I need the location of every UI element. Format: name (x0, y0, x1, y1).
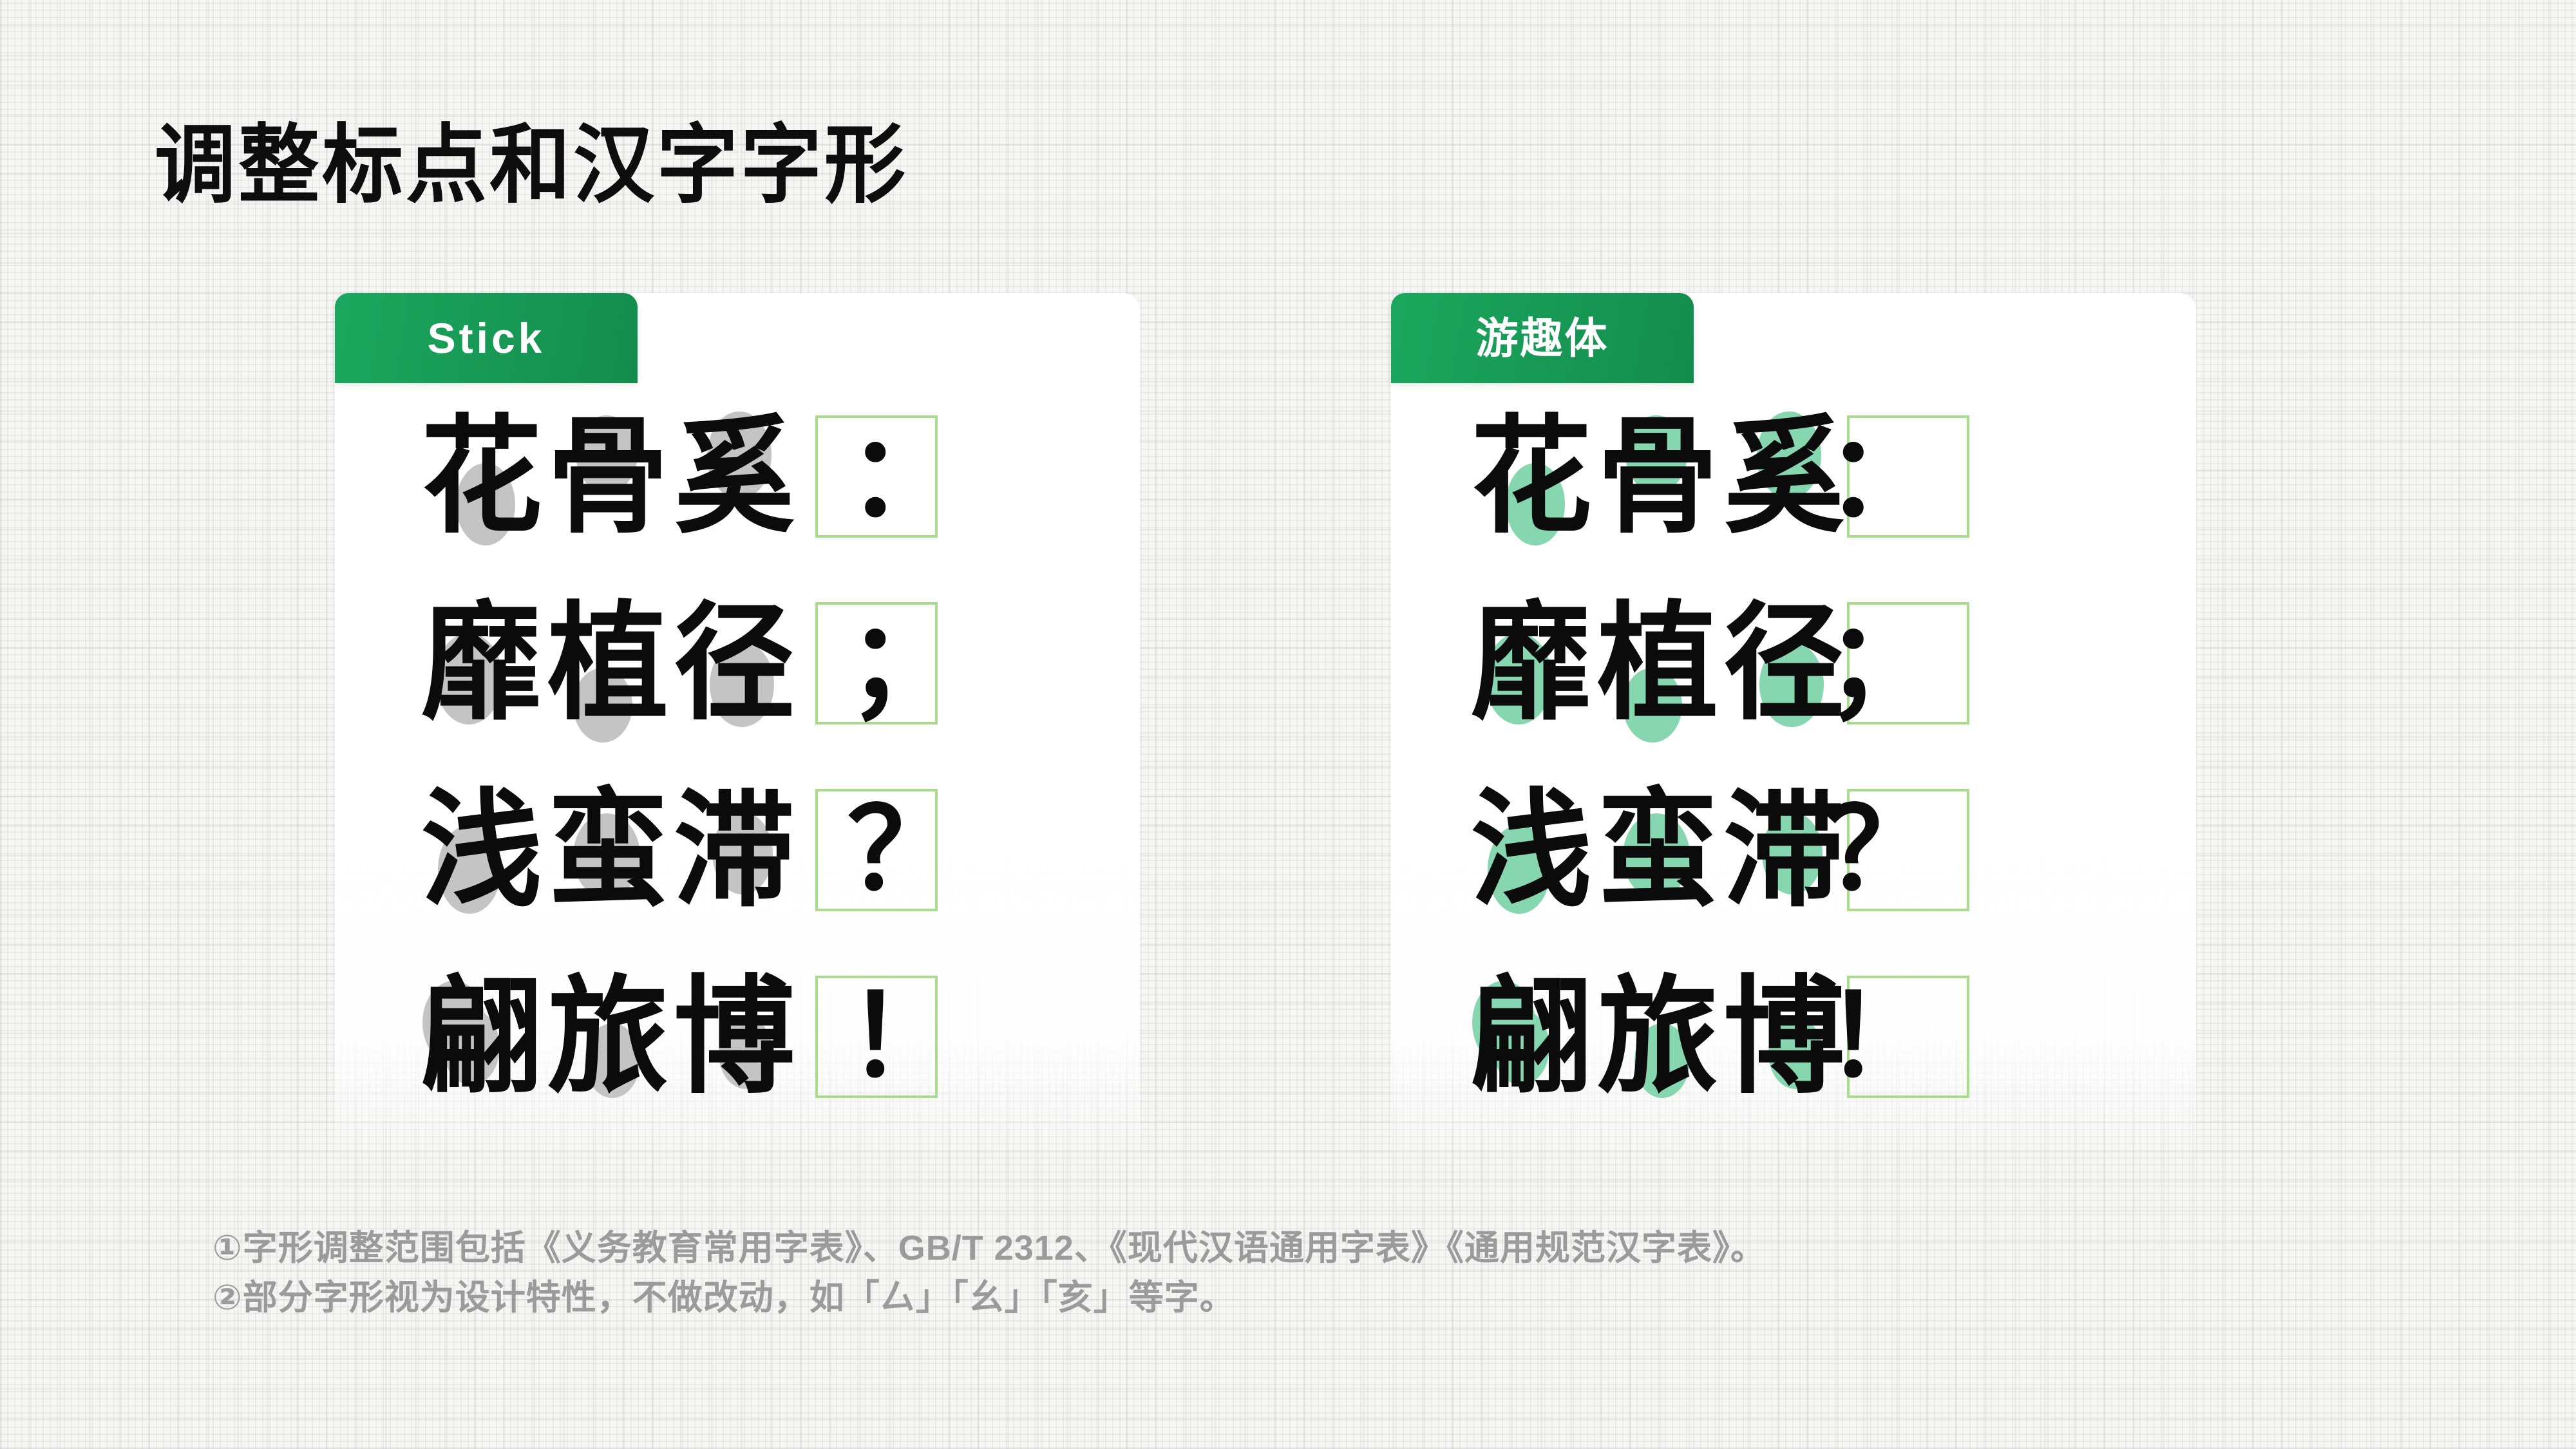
specimen-row: 浅蛮滞？ (335, 757, 1140, 943)
footnote-line: ①字形调整范围包括《义务教育常用字表》、GB/T 2312、《现代汉语通用字表》… (213, 1224, 1766, 1273)
specimen-character: 奚 (1723, 413, 1844, 540)
specimen-character: 花 (1471, 413, 1592, 540)
glyph-cell: 奚 (671, 409, 797, 544)
specimen-character: 博 (674, 973, 795, 1100)
glyph-group: 花骨奚 (1468, 409, 1847, 544)
slide-stage: 调整标点和汉字字形 Stick 花骨奚：靡植径；浅蛮滞？翩旅博！ 游趣体 花骨奚… (0, 0, 2576, 1449)
font-tab-stick[interactable]: Stick (335, 293, 638, 383)
punctuation-box: ？ (1847, 789, 1969, 911)
glyph-cell: 浅 (1468, 782, 1595, 918)
specimen-character: 滞 (1723, 786, 1844, 913)
font-tab-youquti[interactable]: 游趣体 (1391, 293, 1694, 383)
specimen-character: 靡 (1471, 600, 1592, 726)
specimen-character: 浅 (421, 786, 542, 913)
glyph-group: 翩旅博 (1468, 969, 1847, 1104)
punctuation-box: ： (1847, 415, 1969, 538)
glyph-cell: 植 (1595, 596, 1721, 731)
specimen-character: 花 (421, 413, 542, 540)
specimen-character: 旅 (1597, 973, 1718, 1100)
specimen-rows: 花骨奚：靡植径；浅蛮滞？翩旅博！ (1391, 383, 2196, 1130)
specimen-character: 骨 (547, 413, 668, 540)
specimen-row: 浅蛮滞？ (1391, 757, 2196, 943)
specimen-row: 花骨奚： (335, 383, 1140, 570)
punctuation-box: ： (815, 415, 938, 538)
specimen-row: 靡植径； (335, 570, 1140, 757)
specimen-character: 奚 (674, 413, 795, 540)
fullwidth-semicolon-glyph: ； (848, 607, 960, 720)
specimen-character: 植 (1597, 600, 1718, 726)
specimen-row: 靡植径； (1391, 570, 2196, 757)
glyph-cell: 蛮 (1595, 782, 1721, 918)
glyph-group: 浅蛮滞 (1468, 782, 1847, 918)
page-title: 调整标点和汉字字形 (155, 122, 908, 209)
fullwidth-colon-glyph: ： (848, 421, 960, 533)
specimen-row: 翩旅博！ (1391, 943, 2196, 1130)
glyph-group: 花骨奚 (419, 409, 797, 544)
glyph-cell: 骨 (545, 409, 671, 544)
fullwidth-exclamation-mark-glyph: ！ (848, 981, 960, 1094)
glyph-cell: 花 (419, 409, 545, 544)
glyph-cell: 滞 (671, 782, 797, 918)
punctuation-box: ； (1847, 602, 1969, 724)
specimen-panel-youquti: 游趣体 花骨奚：靡植径；浅蛮滞？翩旅博！ (1391, 293, 2196, 1162)
specimen-character: 浅 (1471, 786, 1592, 913)
footnote-line: ②部分字形视为设计特性，不做改动，如「厶」「幺」「亥」等字。 (213, 1273, 1766, 1323)
fullwidth-question-mark-glyph: ？ (848, 794, 960, 907)
glyph-cell: 靡 (1468, 596, 1595, 731)
specimen-row: 花骨奚： (1391, 383, 2196, 570)
glyph-cell: 径 (671, 596, 797, 731)
specimen-rows: 花骨奚：靡植径；浅蛮滞？翩旅博！ (335, 383, 1140, 1130)
specimen-character: 蛮 (1597, 786, 1718, 913)
specimen-character: 径 (1723, 600, 1844, 726)
glyph-group: 靡植径 (1468, 596, 1847, 731)
glyph-cell: 旅 (1595, 969, 1721, 1104)
specimen-character: 博 (1723, 973, 1844, 1100)
glyph-cell: 花 (1468, 409, 1595, 544)
specimen-character: 滞 (674, 786, 795, 913)
glyph-cell: 翩 (419, 969, 545, 1104)
punctuation-box: ！ (815, 976, 938, 1098)
glyph-cell: 浅 (419, 782, 545, 918)
glyph-cell: 博 (671, 969, 797, 1104)
specimen-row: 翩旅博！ (335, 943, 1140, 1130)
specimen-character: 靡 (421, 600, 542, 726)
punctuation-box: ； (815, 602, 938, 724)
glyph-cell: 径 (1721, 596, 1847, 731)
glyph-cell: 奚 (1721, 409, 1847, 544)
glyph-cell: 旅 (545, 969, 671, 1104)
specimen-character: 旅 (547, 973, 668, 1100)
specimen-character: 翩 (1471, 973, 1592, 1100)
glyph-cell: 翩 (1468, 969, 1595, 1104)
specimen-character: 翩 (421, 973, 542, 1100)
punctuation-box: ？ (815, 789, 938, 911)
glyph-cell: 植 (545, 596, 671, 731)
font-tab-label: 游趣体 (1476, 317, 1609, 359)
font-tab-label: Stick (428, 317, 545, 359)
specimen-panel-stick: Stick 花骨奚：靡植径；浅蛮滞？翩旅博！ (335, 293, 1140, 1162)
glyph-cell: 骨 (1595, 409, 1721, 544)
glyph-group: 浅蛮滞 (419, 782, 797, 918)
specimen-character: 植 (547, 600, 668, 726)
glyph-cell: 滞 (1721, 782, 1847, 918)
specimen-character: 径 (674, 600, 795, 726)
glyph-group: 翩旅博 (419, 969, 797, 1104)
glyph-cell: 博 (1721, 969, 1847, 1104)
glyph-cell: 靡 (419, 596, 545, 731)
glyph-cell: 蛮 (545, 782, 671, 918)
glyph-group: 靡植径 (419, 596, 797, 731)
specimen-character: 蛮 (547, 786, 668, 913)
specimen-character: 骨 (1597, 413, 1718, 540)
footnote-block: ①字形调整范围包括《义务教育常用字表》、GB/T 2312、《现代汉语通用字表》… (213, 1224, 1766, 1322)
punctuation-box: ！ (1847, 976, 1969, 1098)
